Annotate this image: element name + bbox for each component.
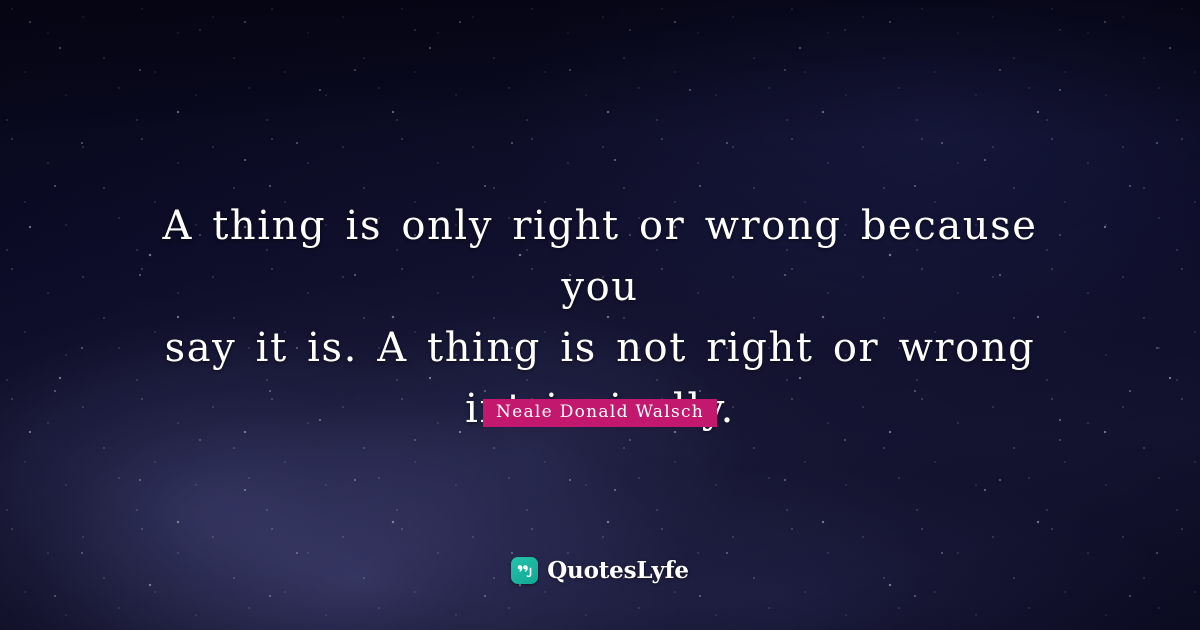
brand-name: QuotesLyfe xyxy=(547,557,689,584)
author-badge-container: Neale Donald Walsch xyxy=(0,399,1200,427)
brand-logo: QuotesLyfe xyxy=(0,557,1200,584)
quote-line-1: A thing is only right or wrong because y… xyxy=(120,196,1080,318)
quote-card: A thing is only right or wrong because y… xyxy=(0,0,1200,630)
author-name-badge: Neale Donald Walsch xyxy=(483,399,717,427)
card-content: A thing is only right or wrong because y… xyxy=(0,0,1200,630)
quotation-mark-icon xyxy=(511,557,538,584)
quote-line-2: say it is. A thing is not right or wrong xyxy=(120,318,1080,379)
